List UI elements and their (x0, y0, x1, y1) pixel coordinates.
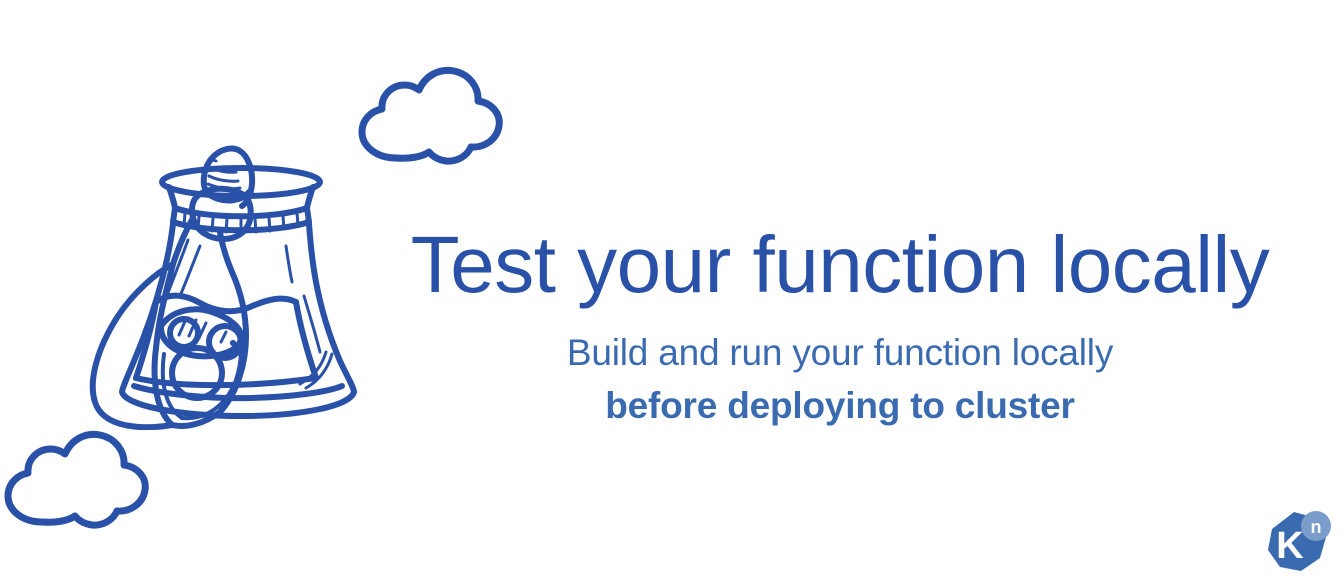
subtitle-line-2: before deploying to cluster (400, 380, 1280, 433)
subtitle-group: Build and run your function locally befo… (400, 327, 1280, 432)
knative-logo: K n (1258, 503, 1334, 579)
cloud-icon-bottom (0, 428, 158, 532)
logo-letter-n: n (1311, 517, 1322, 537)
text-block: Test your function locally Build and run… (400, 225, 1280, 432)
logo-letter-k: K (1276, 525, 1304, 567)
subtitle-line-1: Build and run your function locally (400, 327, 1280, 380)
laboratory-flasks-icon (60, 140, 390, 430)
slide-canvas: Test your function locally Build and run… (0, 0, 1341, 585)
page-title: Test your function locally (400, 225, 1280, 305)
